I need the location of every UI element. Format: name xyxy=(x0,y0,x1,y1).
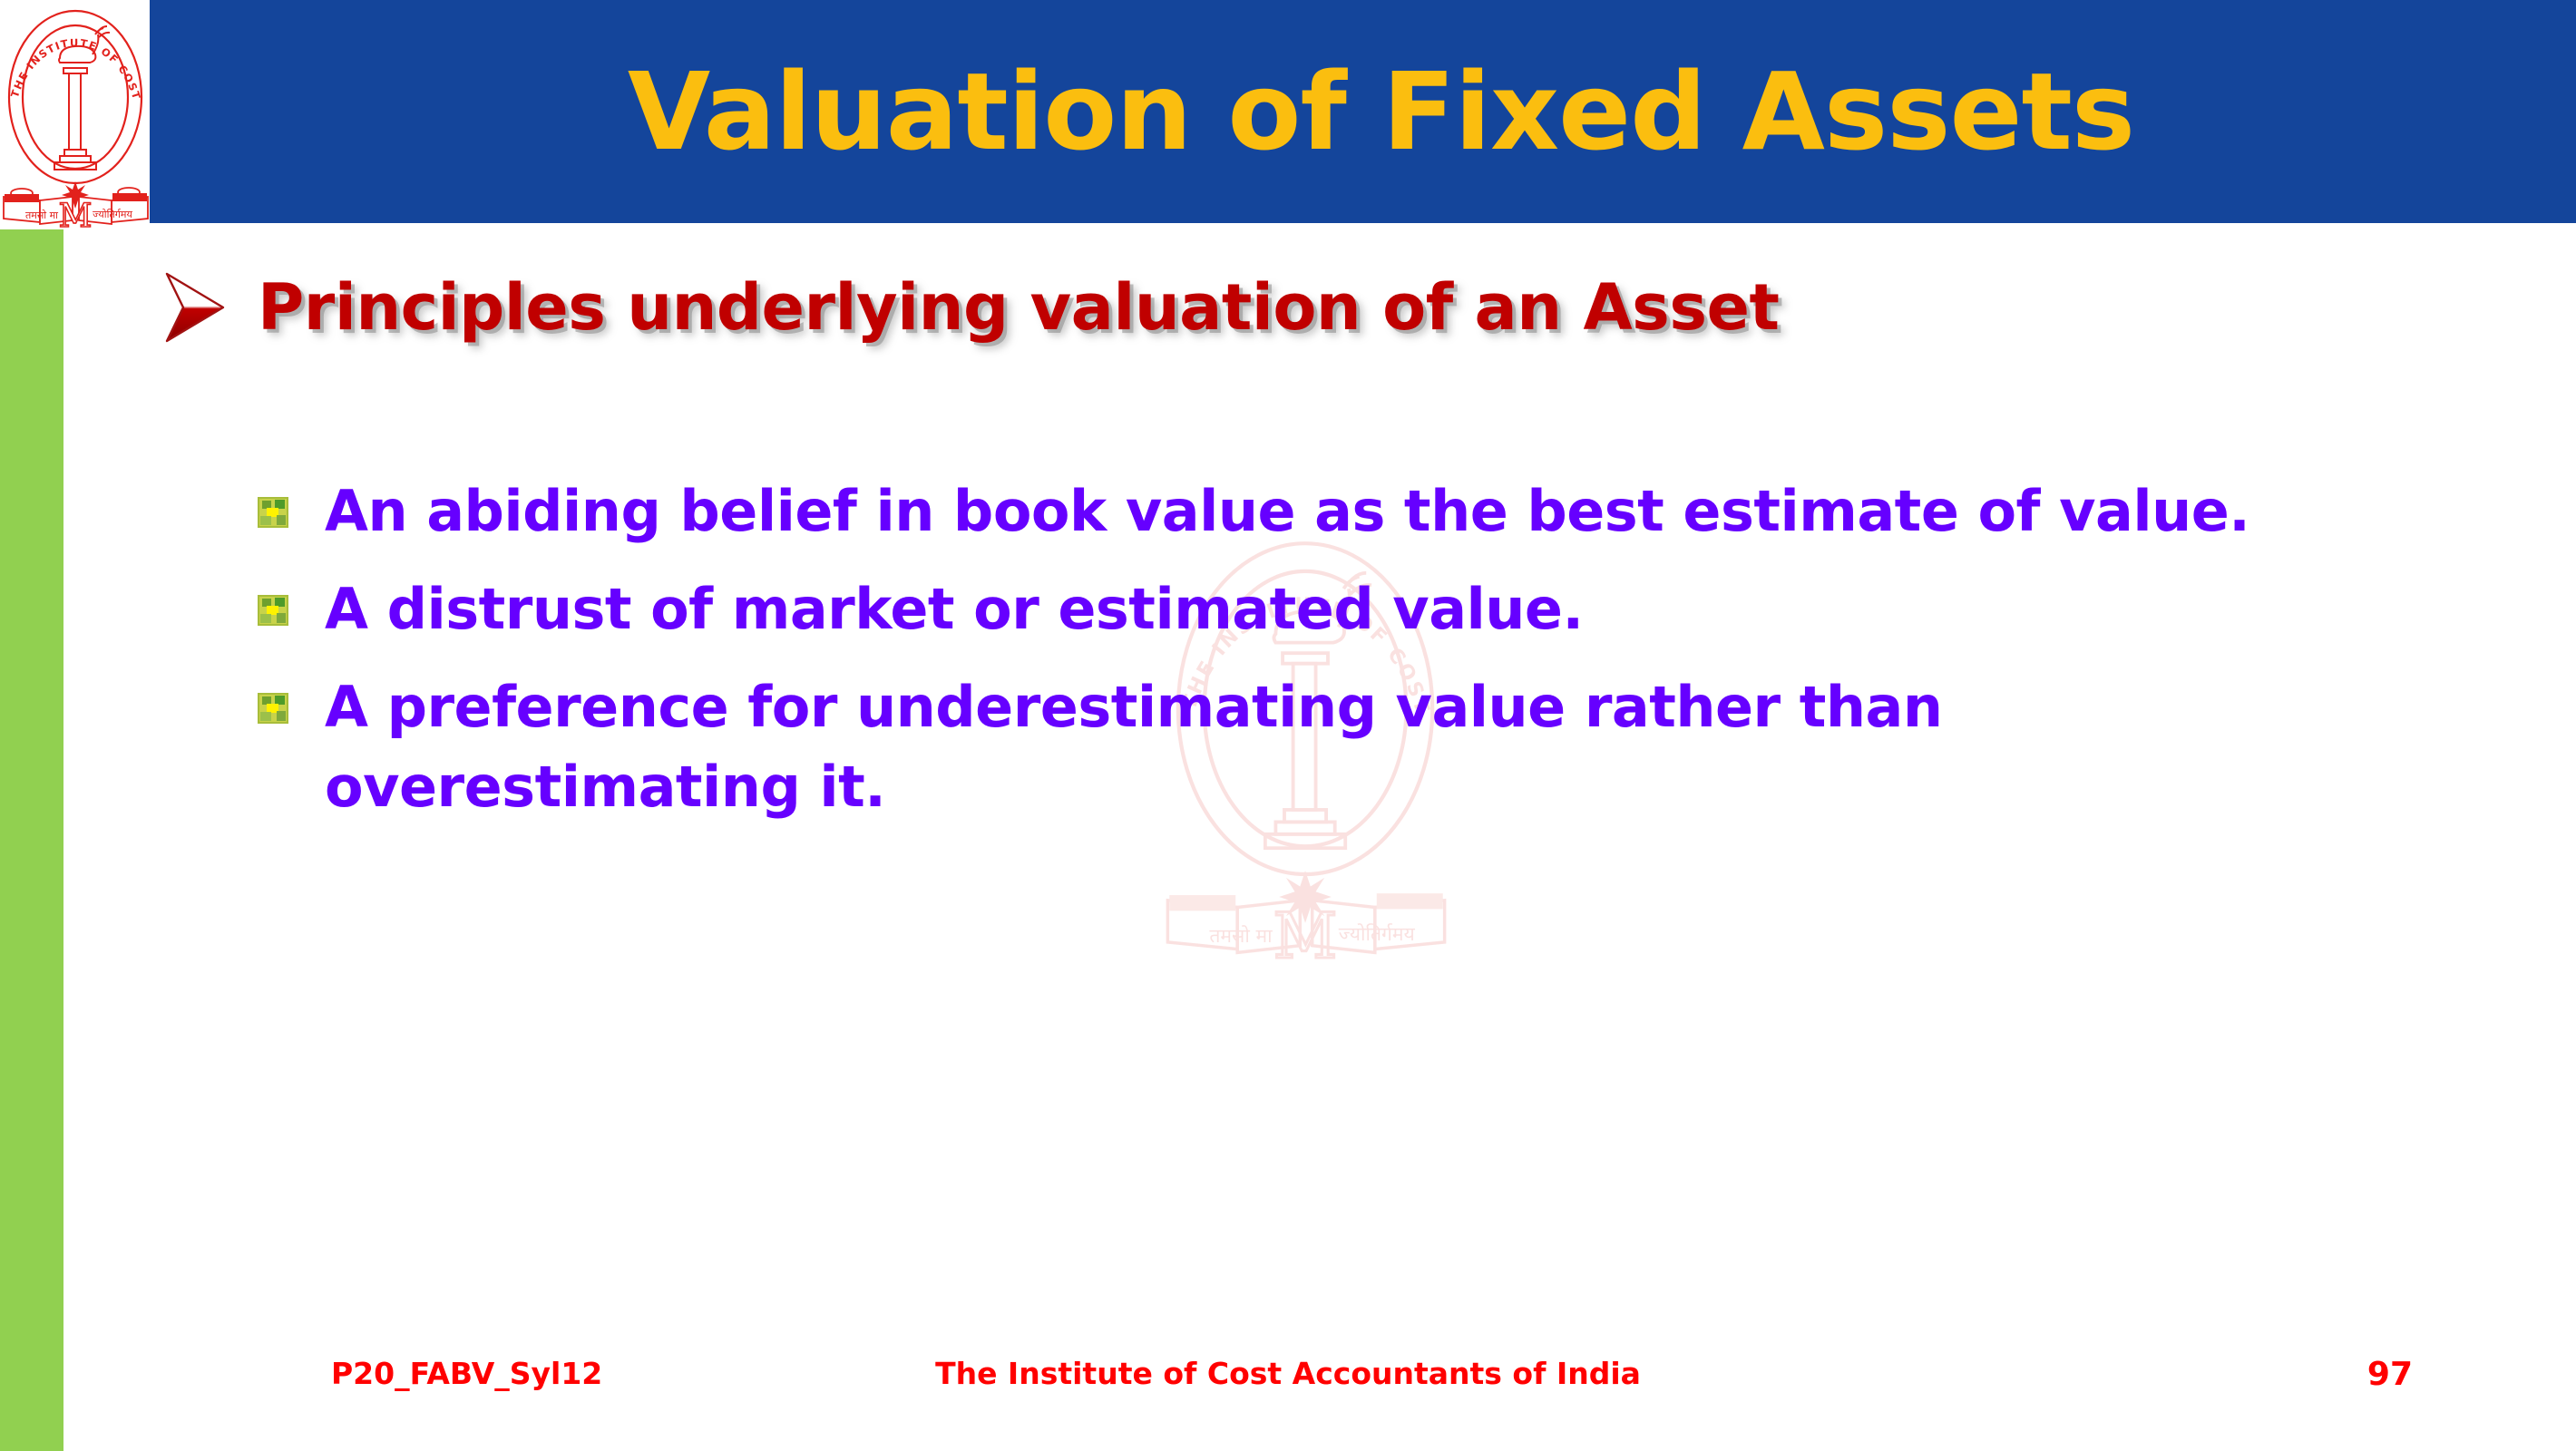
institute-logo: THE INSTITUTE OF COST ACCOUNTANTS OF IND… xyxy=(2,2,150,229)
svg-text:M: M xyxy=(59,198,93,229)
footer-institute-name: The Institute of Cost Accountants of Ind… xyxy=(0,1356,2576,1391)
list-item: A preference for underestimating value r… xyxy=(258,667,2344,827)
list-item: An abiding belief in book value as the b… xyxy=(258,472,2344,551)
list-item-line: A distrust of market or estimated value. xyxy=(325,570,1584,649)
square-bullet-icon xyxy=(258,595,288,626)
svg-text:ज्योतिर्गमय: ज्योतिर्गमय xyxy=(1339,922,1416,945)
list-item-line: An abiding belief in book value as the b… xyxy=(325,472,2249,551)
svg-text:तमसो मा: तमसो मा xyxy=(25,209,58,221)
square-bullet-icon xyxy=(258,497,288,528)
left-green-stripe xyxy=(0,229,63,1451)
bullet-list: An abiding belief in book value as the b… xyxy=(258,472,2344,845)
list-item: A distrust of market or estimated value. xyxy=(258,570,2344,649)
arrow-bullet-icon xyxy=(160,268,230,346)
slide-footer: P20_FABV_Syl12 The Institute of Cost Acc… xyxy=(0,1356,2576,1410)
list-item-text: An abiding belief in book value as the b… xyxy=(325,472,2249,551)
section-heading-row: Principles underlying valuation of an As… xyxy=(160,268,1779,346)
section-heading-text: Principles underlying valuation of an As… xyxy=(258,270,1779,345)
square-bullet-icon xyxy=(258,693,288,724)
page-title: Valuation of Fixed Assets xyxy=(150,0,2576,223)
list-item-line: overestimating it. xyxy=(325,747,1942,827)
list-item-line: A preference for underestimating value r… xyxy=(325,667,1942,747)
footer-page-number: 97 xyxy=(2367,1356,2413,1393)
svg-text:तमसो मा: तमसो मा xyxy=(1209,924,1273,947)
presentation-slide: Valuation of Fixed Assets THE INSTITUTE … xyxy=(0,0,2576,1451)
svg-text:ज्योतिर्गमय: ज्योतिर्गमय xyxy=(93,209,132,220)
list-item-text: A distrust of market or estimated value. xyxy=(325,570,1584,649)
svg-text:M: M xyxy=(1273,901,1338,961)
list-item-text: A preference for underestimating value r… xyxy=(325,667,1942,827)
